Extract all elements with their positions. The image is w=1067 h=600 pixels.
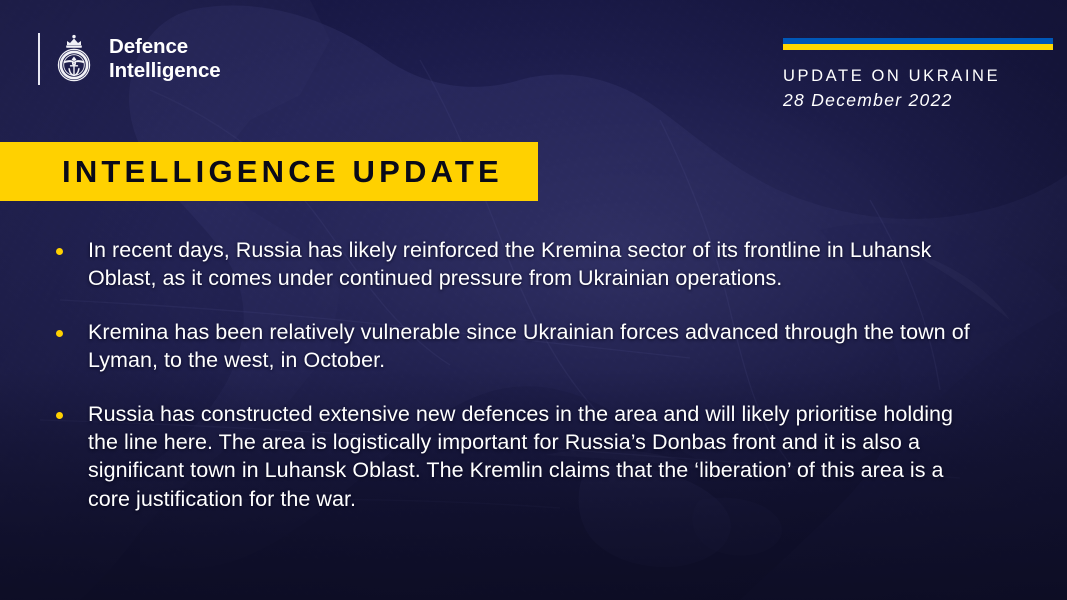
logo-wordmark: Defence Intelligence [109,35,221,83]
banner-label: INTELLIGENCE UPDATE [62,154,503,190]
royal-crest-icon [52,32,96,86]
intelligence-update-slide: Defence Intelligence UPDATE ON UKRAINE 2… [0,0,1067,600]
logo-line-defence: Defence [109,35,221,59]
logo-line-intelligence: Intelligence [109,59,221,83]
intelligence-update-banner: INTELLIGENCE UPDATE [0,142,538,201]
update-date: 28 December 2022 [783,90,1053,111]
bullet-text: Kremina has been relatively vulnerable s… [88,318,986,375]
bullet-dot-icon [56,248,63,255]
logo-divider-rule [38,33,40,85]
ukraine-flag-icon [783,38,1053,50]
bullet-list: In recent days, Russia has likely reinfo… [56,236,986,513]
bullet-dot-icon [56,412,63,419]
update-header-block: UPDATE ON UKRAINE 28 December 2022 [783,38,1053,111]
list-item: Kremina has been relatively vulnerable s… [56,318,986,375]
update-title: UPDATE ON UKRAINE [783,67,1053,86]
list-item: In recent days, Russia has likely reinfo… [56,236,986,293]
flag-yellow-stripe [783,44,1053,50]
bullet-text: Russia has constructed extensive new def… [88,400,986,514]
bullet-text: In recent days, Russia has likely reinfo… [88,236,986,293]
defence-intelligence-logo: Defence Intelligence [38,30,221,88]
list-item: Russia has constructed extensive new def… [56,400,986,514]
bullet-dot-icon [56,330,63,337]
